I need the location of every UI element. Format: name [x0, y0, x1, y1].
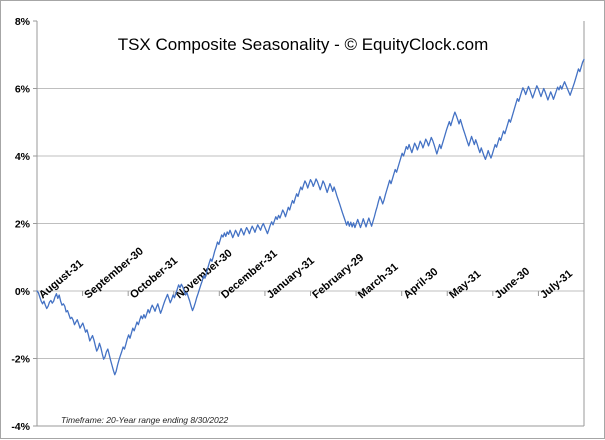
- series-group: [37, 59, 584, 374]
- ytick-label: 0%: [15, 286, 31, 298]
- xtick-label: July-31: [538, 268, 575, 302]
- xtick-label: June-30: [493, 265, 533, 301]
- chart-footnote: Timeframe: 20-Year range ending 8/30/202…: [61, 415, 228, 425]
- xtick-label: August-31: [37, 258, 86, 302]
- ytick-label: -2%: [11, 354, 30, 366]
- ytick-label: 6%: [15, 84, 31, 96]
- ytick-label: -4%: [11, 421, 30, 433]
- ytick-label: 2%: [15, 219, 31, 231]
- ytick-labels-group: 8%6%4%2%0%-2%-4%: [11, 16, 30, 433]
- ytick-label: 8%: [15, 16, 31, 28]
- xtick-label: April-30: [401, 266, 440, 302]
- series-line: [37, 59, 584, 374]
- chart-title: TSX Composite Seasonality - © EquityCloc…: [118, 35, 489, 54]
- ytick-label: 4%: [15, 151, 31, 163]
- xtick-label: March-31: [356, 261, 401, 301]
- seasonality-chart: 8%6%4%2%0%-2%-4% August-31September-30Oc…: [0, 0, 605, 439]
- xtick-labels-group: August-31September-30October-31November-…: [37, 245, 575, 301]
- xtick-label: May-31: [447, 268, 483, 301]
- chart-canvas: 8%6%4%2%0%-2%-4% August-31September-30Oc…: [1, 1, 605, 440]
